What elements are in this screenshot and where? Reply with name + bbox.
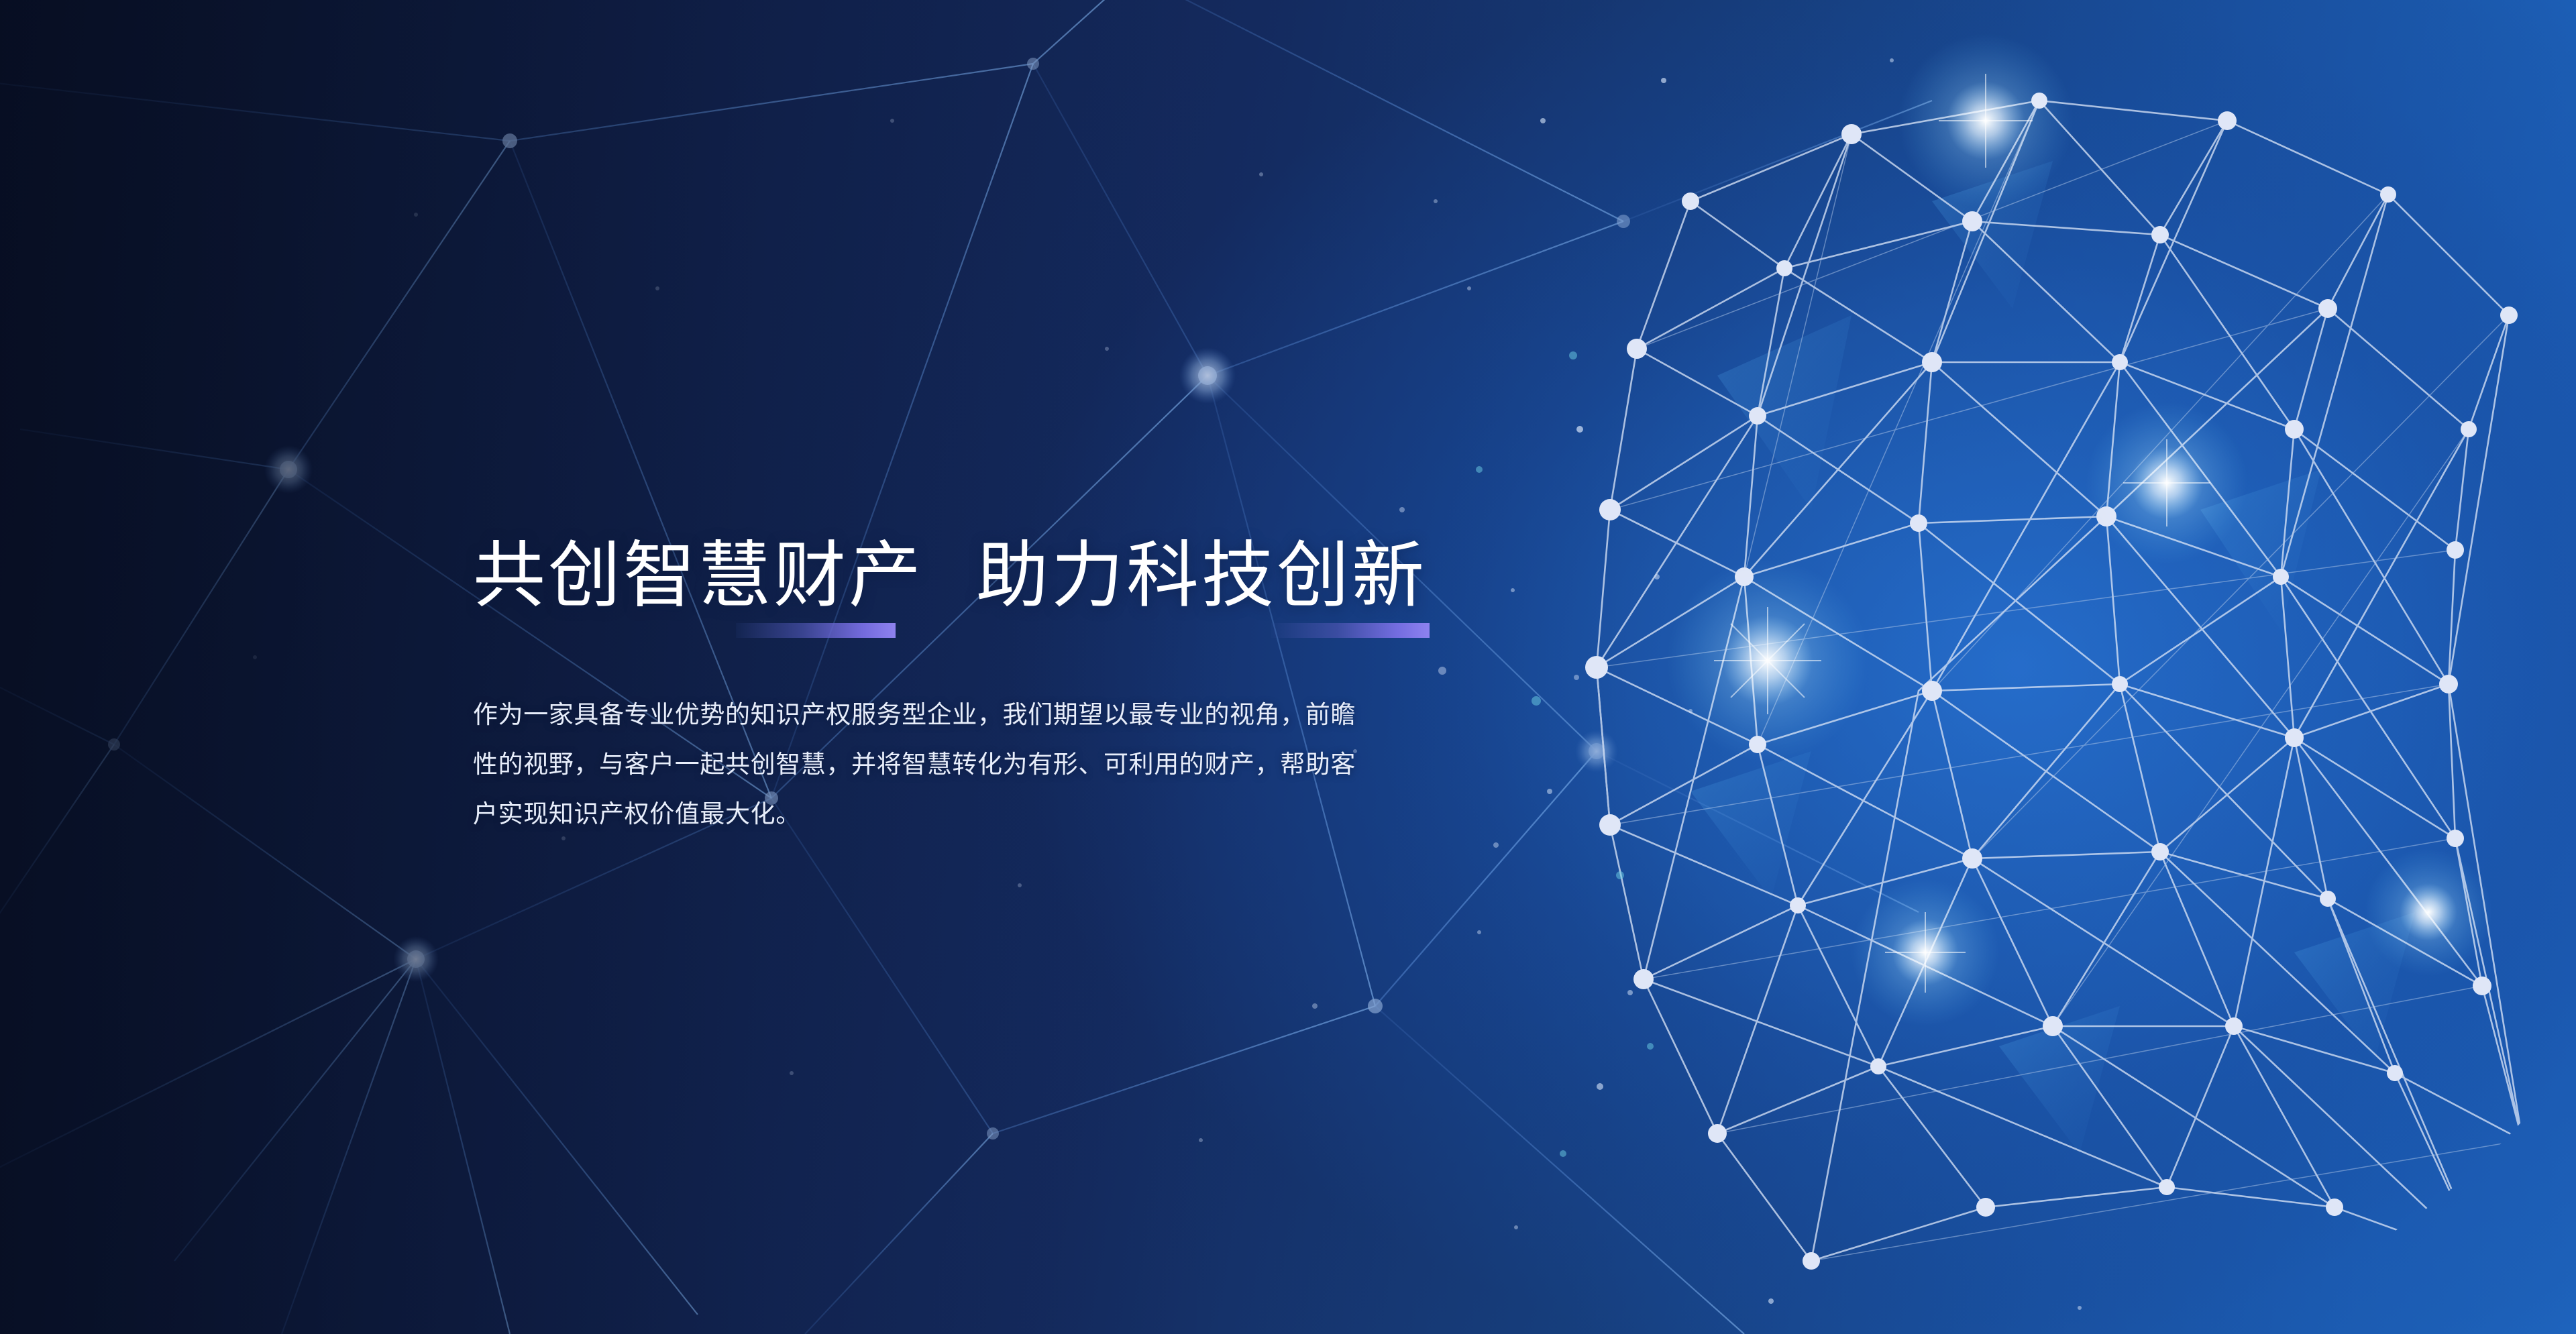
hero-description: 作为一家具备专业优势的知识产权服务型企业，我们期望以最专业的视角，前瞻 性的视野… (473, 690, 1439, 839)
accent-underline-1 (736, 623, 896, 638)
headline-group-2: 助力科技创新 (976, 537, 1427, 615)
headline-group-1: 共创智慧财产 (473, 537, 924, 615)
hero-content: 共创智慧财产 助力科技创新 作为一家具备专业优势的知识产权服务型企业，我们期望以… (473, 537, 1466, 839)
description-line-3: 户实现知识产权价值最大化。 (473, 789, 1439, 839)
description-line-1: 作为一家具备专业优势的知识产权服务型企业，我们期望以最专业的视角，前瞻 (473, 690, 1439, 740)
accent-underline-2 (1271, 623, 1430, 638)
headline-text-secondary: 助力科技创新 (976, 537, 1427, 615)
description-line-2: 性的视野，与客户一起共创智慧，并将智慧转化为有形、可利用的财产，帮助客 (473, 740, 1439, 789)
headline-text-primary: 共创智慧财产 (473, 537, 924, 615)
page-title: 共创智慧财产 助力科技创新 (473, 537, 1466, 615)
hero-banner: 共创智慧财产 助力科技创新 作为一家具备专业优势的知识产权服务型企业，我们期望以… (0, 0, 2576, 1334)
